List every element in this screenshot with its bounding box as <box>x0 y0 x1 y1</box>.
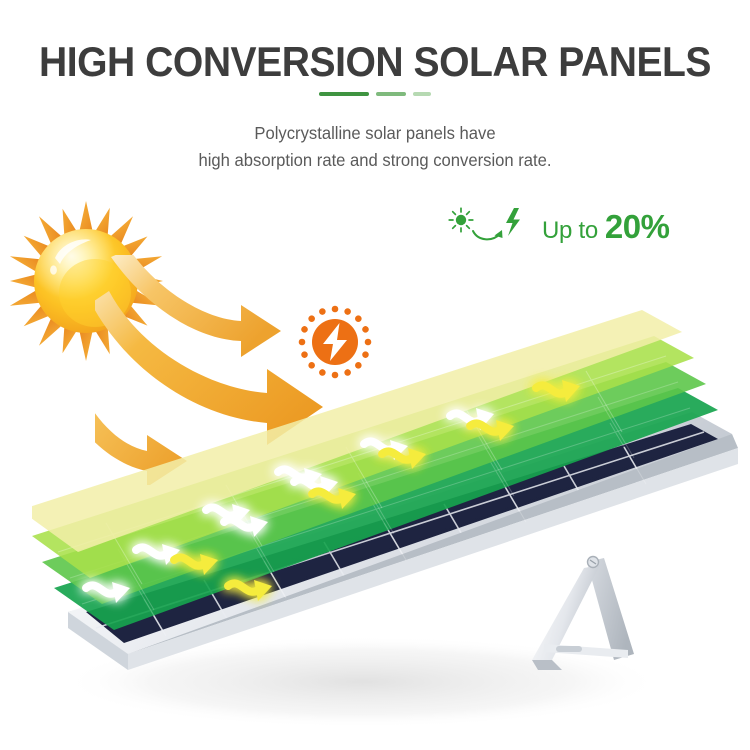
divider-dash-2 <box>376 92 406 96</box>
infographic-canvas: HIGH CONVERSION SOLAR PANELS Polycrystal… <box>0 0 750 750</box>
kickstand-slot <box>556 646 582 652</box>
subtitle-line-2: high absorption rate and strong conversi… <box>19 147 732 174</box>
panel-kickstand <box>532 557 634 671</box>
solar-panel-svg <box>32 262 750 738</box>
solar-panel-scene <box>32 262 750 738</box>
page-subtitle: Polycrystalline solar panels have high a… <box>19 120 732 174</box>
badge-icon-group <box>444 206 532 248</box>
sun-icon <box>449 208 473 232</box>
badge-value-label: 20% <box>605 208 670 246</box>
badge-icons-svg <box>444 206 532 248</box>
lightning-bolt-icon <box>506 208 520 236</box>
efficiency-badge: Up to 20% <box>444 204 669 250</box>
divider-dash-1 <box>319 92 369 96</box>
badge-text-group: Up to 20% <box>542 208 669 246</box>
badge-prefix-label: Up to <box>542 217 598 245</box>
subtitle-line-1: Polycrystalline solar panels have <box>19 120 732 147</box>
divider-dash-3 <box>413 92 431 96</box>
page-title: HIGH CONVERSION SOLAR PANELS <box>26 38 724 86</box>
title-divider <box>0 92 750 96</box>
